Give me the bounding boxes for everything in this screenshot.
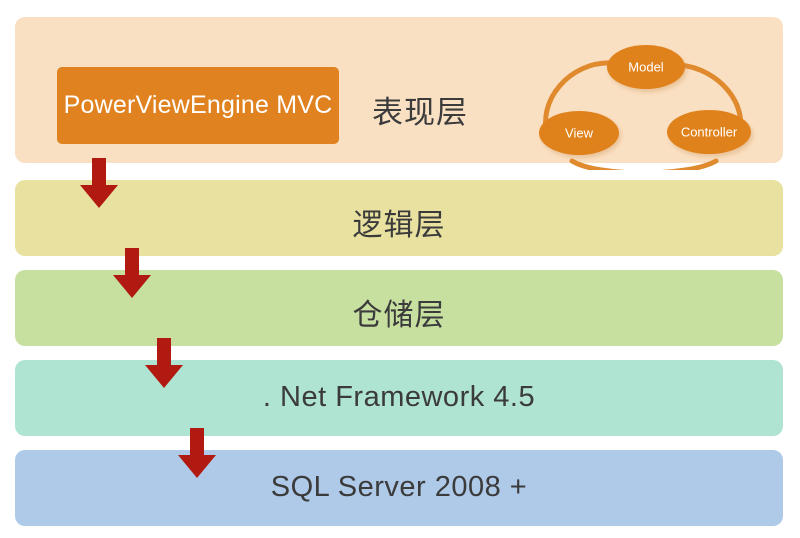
- layer-band-database: SQL Server 2008 +: [15, 450, 783, 526]
- layer-label-framework: . Net Framework 4.5: [15, 381, 783, 414]
- arc-controller-to-view: [572, 161, 716, 170]
- power-view-engine-button[interactable]: PowerViewEngine MVC: [57, 67, 339, 144]
- flow-arrow-presentation-to-logic: [80, 158, 118, 208]
- layer-band-logic: 逻辑层: [15, 180, 783, 256]
- layer-band-presentation: PowerViewEngine MVC 表现层: [15, 17, 783, 163]
- mvc-node-label-view: View: [565, 126, 594, 141]
- mvc-node-label-controller: Controller: [681, 125, 738, 140]
- mvc-node-label-model: Model: [628, 60, 664, 75]
- mvc-cycle-diagram: Model View Controller: [520, 35, 770, 170]
- flow-arrow-logic-to-repository: [113, 248, 151, 298]
- flow-arrow-repository-to-framework: [145, 338, 183, 388]
- layer-band-framework: . Net Framework 4.5: [15, 360, 783, 436]
- flow-arrow-framework-to-database: [178, 428, 216, 478]
- architecture-diagram: PowerViewEngine MVC 表现层: [0, 0, 800, 538]
- layer-label-presentation: 表现层: [355, 87, 485, 132]
- layer-label-logic: 逻辑层: [15, 200, 783, 244]
- layer-label-database: SQL Server 2008 +: [15, 471, 783, 504]
